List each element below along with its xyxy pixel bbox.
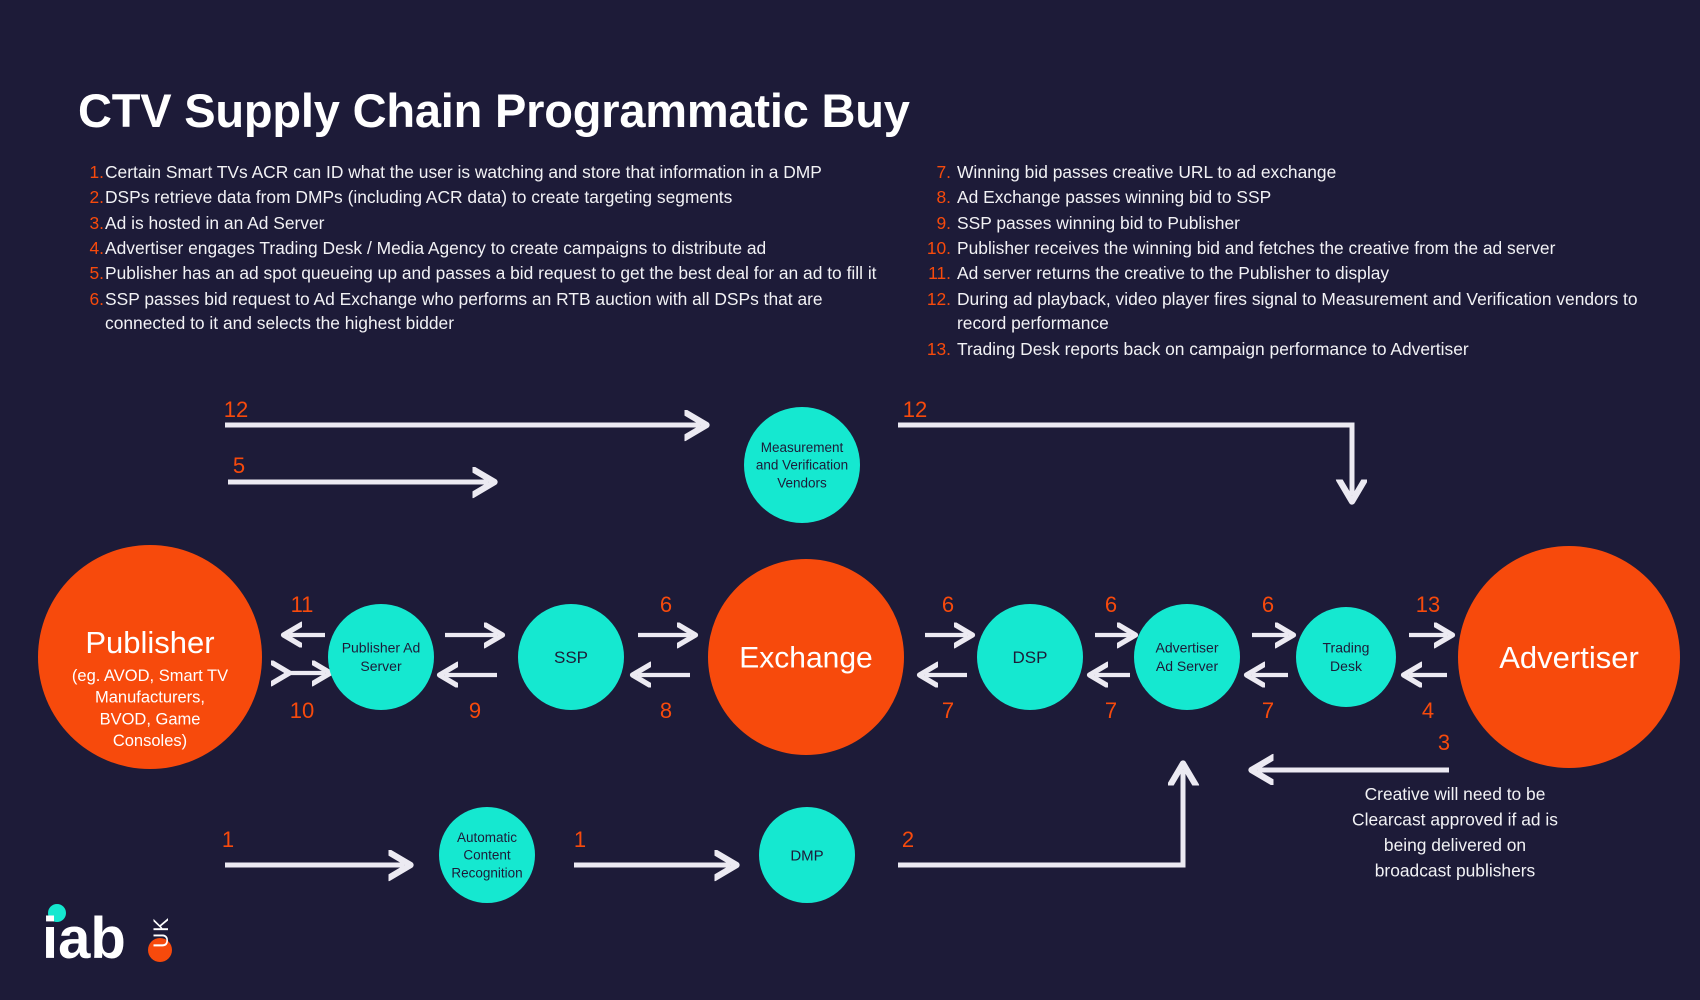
step-item: 10.Publisher receives the winning bid an… — [925, 236, 1645, 260]
node-sublabel-line: Vendors — [777, 476, 827, 491]
node-sublabel-line: Consoles) — [113, 732, 187, 750]
arrow-number-top-right-advertiser: 12 — [903, 397, 927, 422]
step-text: Ad is hosted in an Ad Server — [105, 211, 879, 235]
step-item: 5.Publisher has an ad spot queueing up a… — [84, 261, 879, 285]
arrow-dmp-to-aas-2 — [898, 770, 1183, 865]
step-number: 11. — [925, 261, 951, 285]
step-number: 9. — [925, 211, 951, 235]
node-sublabel-line: DMP — [790, 847, 823, 864]
step-text: Publisher has an ad spot queueing up and… — [105, 261, 879, 285]
node-dmp[interactable]: DMP — [759, 807, 855, 903]
arrow-number-top-measurement: 12 — [224, 397, 248, 422]
node-sublabel-line: Recognition — [451, 866, 522, 881]
node-sublabel-line: Ad Server — [1156, 658, 1219, 674]
arrow-number-td-to-adv-out: 4 — [1422, 698, 1434, 723]
node-sublabel-line: Server — [360, 658, 402, 674]
node-sublabel-line: BVOD, Game — [100, 710, 201, 728]
step-number: 3. — [84, 211, 104, 235]
node-circle-trading-desk — [1296, 607, 1396, 707]
step-text: DSPs retrieve data from DMPs (including … — [105, 185, 879, 209]
step-text: Trading Desk reports back on campaign pe… — [957, 337, 1645, 361]
step-number: 8. — [925, 185, 951, 209]
clearcast-note: Creative will need to beClearcast approv… — [1352, 784, 1558, 881]
arrow-number-ssp-to-exchange-out: 8 — [660, 698, 672, 723]
step-text: Certain Smart TVs ACR can ID what the us… — [105, 160, 879, 184]
step-text: SSP passes winning bid to Publisher — [957, 211, 1645, 235]
node-label-advertiser: Advertiser — [1499, 640, 1639, 675]
arrow-number-pas-to-ssp-in: 9 — [469, 698, 481, 723]
step-item: 2.DSPs retrieve data from DMPs (includin… — [84, 185, 879, 209]
steps-list-right: 7.Winning bid passes creative URL to ad … — [925, 160, 1645, 362]
arrow-number-acr-in: 1 — [222, 827, 234, 852]
arrow-measurement-to-advertiser — [898, 425, 1352, 495]
supply-chain-diagram: Publisher(eg. AVOD, Smart TVManufacturer… — [0, 395, 1700, 905]
logo-region-label: UK — [150, 917, 173, 948]
node-sublabel-line: Measurement — [761, 440, 844, 455]
node-sublabel-line: Trading — [1323, 640, 1370, 656]
arrow-number-top-publisher-to-ssp: 5 — [233, 453, 245, 478]
arrow-number-td-to-adv-in: 13 — [1416, 592, 1440, 617]
step-text: Advertiser engages Trading Desk / Media … — [105, 236, 879, 260]
step-item: 13.Trading Desk reports back on campaign… — [925, 337, 1645, 361]
node-label-publisher: Publisher — [85, 625, 214, 660]
node-sublabel-line: Desk — [1330, 658, 1363, 674]
node-circle-publisher-ad-server — [328, 604, 434, 710]
node-sublabel-line: Content — [463, 848, 511, 863]
step-number: 2. — [84, 185, 104, 209]
step-number: 6. — [84, 287, 104, 311]
step-item: 9.SSP passes winning bid to Publisher — [925, 211, 1645, 235]
node-acr[interactable]: AutomaticContentRecognition — [439, 807, 535, 903]
arrow-number-dmp-to-up: 2 — [902, 827, 914, 852]
steps-list-left: 1.Certain Smart TVs ACR can ID what the … — [84, 160, 879, 337]
logo-wordmark: iab — [42, 906, 126, 966]
clearcast-note-line: broadcast publishers — [1375, 861, 1536, 881]
step-text: SSP passes bid request to Ad Exchange wh… — [105, 287, 879, 336]
step-number: 13. — [925, 337, 951, 361]
node-sublabel-line: Publisher Ad — [342, 640, 421, 656]
node-publisher[interactable]: Publisher(eg. AVOD, Smart TVManufacturer… — [38, 545, 262, 769]
arrow-number-dsp-to-aas-out: 7 — [1105, 698, 1117, 723]
step-item: 6.SSP passes bid request to Ad Exchange … — [84, 287, 879, 336]
arrow-number-adv-to-td-long: 3 — [1438, 730, 1450, 755]
node-circle-advertiser-ad-server — [1134, 604, 1240, 710]
step-item: 3.Ad is hosted in an Ad Server — [84, 211, 879, 235]
clearcast-note-line: Clearcast approved if ad is — [1352, 810, 1558, 830]
step-text: Ad Exchange passes winning bid to SSP — [957, 185, 1645, 209]
step-text: Ad server returns the creative to the Pu… — [957, 261, 1645, 285]
step-number: 1. — [84, 160, 104, 184]
node-sublabel-line: SSP — [554, 648, 588, 667]
step-number: 4. — [84, 236, 104, 260]
node-sublabel-line: (eg. AVOD, Smart TV — [72, 667, 228, 685]
step-item: 8.Ad Exchange passes winning bid to SSP — [925, 185, 1645, 209]
node-publisher-ad-server[interactable]: Publisher AdServer — [328, 604, 434, 710]
node-sublabel-line: DSP — [1013, 648, 1048, 667]
step-text: During ad playback, video player fires s… — [957, 287, 1645, 336]
arrow-number-exchange-to-dsp-out: 7 — [942, 698, 954, 723]
step-item: 1.Certain Smart TVs ACR can ID what the … — [84, 160, 879, 184]
node-measurement[interactable]: Measurementand VerificationVendors — [744, 407, 860, 523]
arrow-number-ssp-to-exchange-in: 6 — [660, 592, 672, 617]
step-item: 11.Ad server returns the creative to the… — [925, 261, 1645, 285]
node-dsp[interactable]: DSP — [977, 604, 1083, 710]
node-advertiser[interactable]: Advertiser — [1458, 546, 1680, 768]
node-sublabel-line: and Verification — [756, 458, 848, 473]
step-item: 12.During ad playback, video player fire… — [925, 287, 1645, 336]
arrow-number-aas-to-td-in: 6 — [1262, 592, 1274, 617]
node-sublabel-line: Advertiser — [1155, 640, 1218, 656]
clearcast-note-line: Creative will need to be — [1365, 784, 1546, 804]
iab-uk-logo[interactable]: iab UK — [42, 902, 202, 966]
arrow-number-aas-to-td-out: 7 — [1262, 698, 1274, 723]
step-number: 12. — [925, 287, 951, 311]
step-number: 7. — [925, 160, 951, 184]
step-number: 10. — [925, 236, 951, 260]
node-sublabel-line: Automatic — [457, 830, 517, 845]
arrow-number-dsp-to-aas-in: 6 — [1105, 592, 1117, 617]
step-text: Publisher receives the winning bid and f… — [957, 236, 1645, 260]
clearcast-note-line: being delivered on — [1384, 835, 1526, 855]
node-advertiser-ad-server[interactable]: AdvertiserAd Server — [1134, 604, 1240, 710]
arrow-number-exchange-to-dsp-in: 6 — [942, 592, 954, 617]
node-ssp[interactable]: SSP — [518, 604, 624, 710]
step-text: Winning bid passes creative URL to ad ex… — [957, 160, 1645, 184]
arrow-number-pub-to-pas-in: 11 — [291, 592, 314, 617]
arrow-number-pub-to-pas-out: 10 — [290, 698, 314, 723]
arrow-number-acr-to-dmp: 1 — [574, 827, 586, 852]
node-sublabel-line: Manufacturers, — [95, 689, 205, 707]
step-item: 4.Advertiser engages Trading Desk / Medi… — [84, 236, 879, 260]
step-number: 5. — [84, 261, 104, 285]
node-exchange[interactable]: Exchange — [708, 559, 904, 755]
page-title: CTV Supply Chain Programmatic Buy — [78, 83, 910, 138]
node-label-exchange: Exchange — [739, 642, 872, 675]
step-item: 7.Winning bid passes creative URL to ad … — [925, 160, 1645, 184]
node-trading-desk[interactable]: TradingDesk — [1296, 607, 1396, 707]
